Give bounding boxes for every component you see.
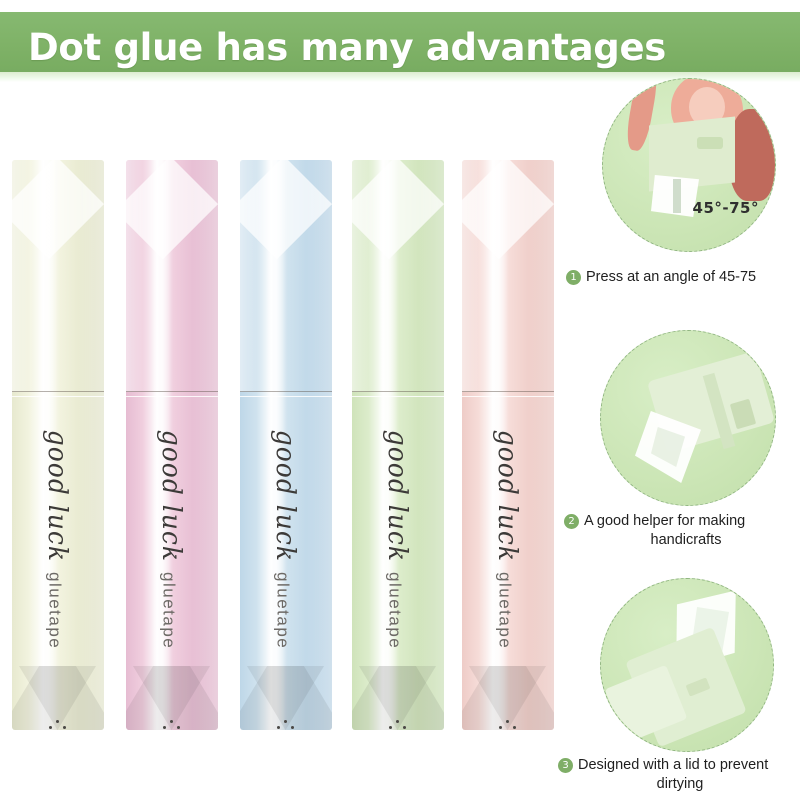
pen-label-text: good luckgluetape (494, 430, 523, 650)
cap-facet-left (462, 160, 484, 392)
feature-caption-2-line-1: A good helper for making (584, 512, 745, 531)
glue-dispenser-window (697, 137, 723, 149)
cap-facet-right (528, 160, 554, 392)
pen-label: good luckgluetape (352, 405, 444, 725)
press-angle-photo: 45°-75° (602, 78, 776, 252)
pen-cap (352, 160, 444, 392)
label-dot-pattern (45, 720, 71, 730)
cap-sheen (266, 160, 286, 392)
brand-script-text: good luck (157, 430, 187, 562)
pen-label: good luckgluetape (240, 405, 332, 725)
brand-script-text: good luck (493, 430, 523, 562)
cap-facet-right (192, 160, 218, 392)
pen-cap (240, 160, 332, 392)
cap-facet-left (352, 160, 374, 392)
green-glue-pen: good luckgluetape (352, 160, 444, 730)
feature-caption-1-line-1: Press at an angle of 45-75 (586, 268, 756, 287)
feature-caption-2: 2 A good helper for making handicrafts (564, 512, 800, 550)
cap-sheen (152, 160, 172, 392)
cap-facet-right (78, 160, 104, 392)
brand-sub-text: gluetape (273, 572, 293, 649)
pen-label: good luckgluetape (462, 405, 554, 725)
brand-sub-text: gluetape (495, 572, 515, 649)
cap-facet-left (126, 160, 148, 392)
cap-facet-right (418, 160, 444, 392)
pen-label-text: good luckgluetape (44, 430, 73, 650)
pen-label: good luckgluetape (12, 405, 104, 725)
feature-caption-3-line-1: Designed with a lid to prevent (578, 756, 768, 775)
feature-caption-2-line-2: handicrafts (564, 531, 800, 550)
pink-glue-pen: good luckgluetape (126, 160, 218, 730)
cap-sheen (378, 160, 398, 392)
pen-label-text: good luckgluetape (384, 430, 413, 650)
handicraft-helper-photo (600, 330, 776, 506)
label-dot-pattern (159, 720, 185, 730)
cap-sheen (38, 160, 58, 392)
label-dot-pattern (385, 720, 411, 730)
blue-glue-pen: good luckgluetape (240, 160, 332, 730)
feature-number-badge-1: 1 (566, 270, 581, 285)
feature-caption-3: 3 Designed with a lid to prevent dirtyin… (558, 756, 800, 794)
pen-label-text: good luckgluetape (272, 430, 301, 650)
feature-column: 45°-75° 1 Press at an angle of 45-75 2 A… (556, 78, 800, 800)
pen-cap (462, 160, 554, 392)
label-dot-pattern (273, 720, 299, 730)
cap-facet-left (240, 160, 262, 392)
hand-shadow (729, 109, 775, 201)
pen-label: good luckgluetape (126, 405, 218, 725)
brand-script-text: good luck (383, 430, 413, 562)
cap-facet-right (306, 160, 332, 392)
header-banner: Dot glue has many advantages (0, 12, 800, 72)
brand-script-text: good luck (43, 430, 73, 562)
brand-sub-text: gluetape (159, 572, 179, 649)
brand-sub-text: gluetape (385, 572, 405, 649)
cap-facet-left (12, 160, 34, 392)
product-lineup: good luckgluetapegood luckgluetapegood l… (0, 90, 560, 750)
feature-number-badge-3: 3 (558, 758, 573, 773)
ivory-glue-pen: good luckgluetape (12, 160, 104, 730)
cap-sheen (488, 160, 508, 392)
pen-label-text: good luckgluetape (158, 430, 187, 650)
feature-caption-3-line-2: dirtying (558, 775, 800, 794)
product-infographic: Dot glue has many advantages good luckgl… (0, 0, 800, 800)
lid-design-photo (600, 578, 774, 752)
brand-sub-text: gluetape (45, 572, 65, 649)
page-title: Dot glue has many advantages (28, 26, 666, 69)
feature-caption-1: 1 Press at an angle of 45-75 (566, 268, 800, 287)
feature-number-badge-2: 2 (564, 514, 579, 529)
brand-script-text: good luck (271, 430, 301, 562)
peach-glue-pen: good luckgluetape (462, 160, 554, 730)
label-dot-pattern (495, 720, 521, 730)
angle-annotation: 45°-75° (693, 199, 759, 217)
pen-cap (126, 160, 218, 392)
pen-cap (12, 160, 104, 392)
applicator-tip (673, 179, 681, 213)
